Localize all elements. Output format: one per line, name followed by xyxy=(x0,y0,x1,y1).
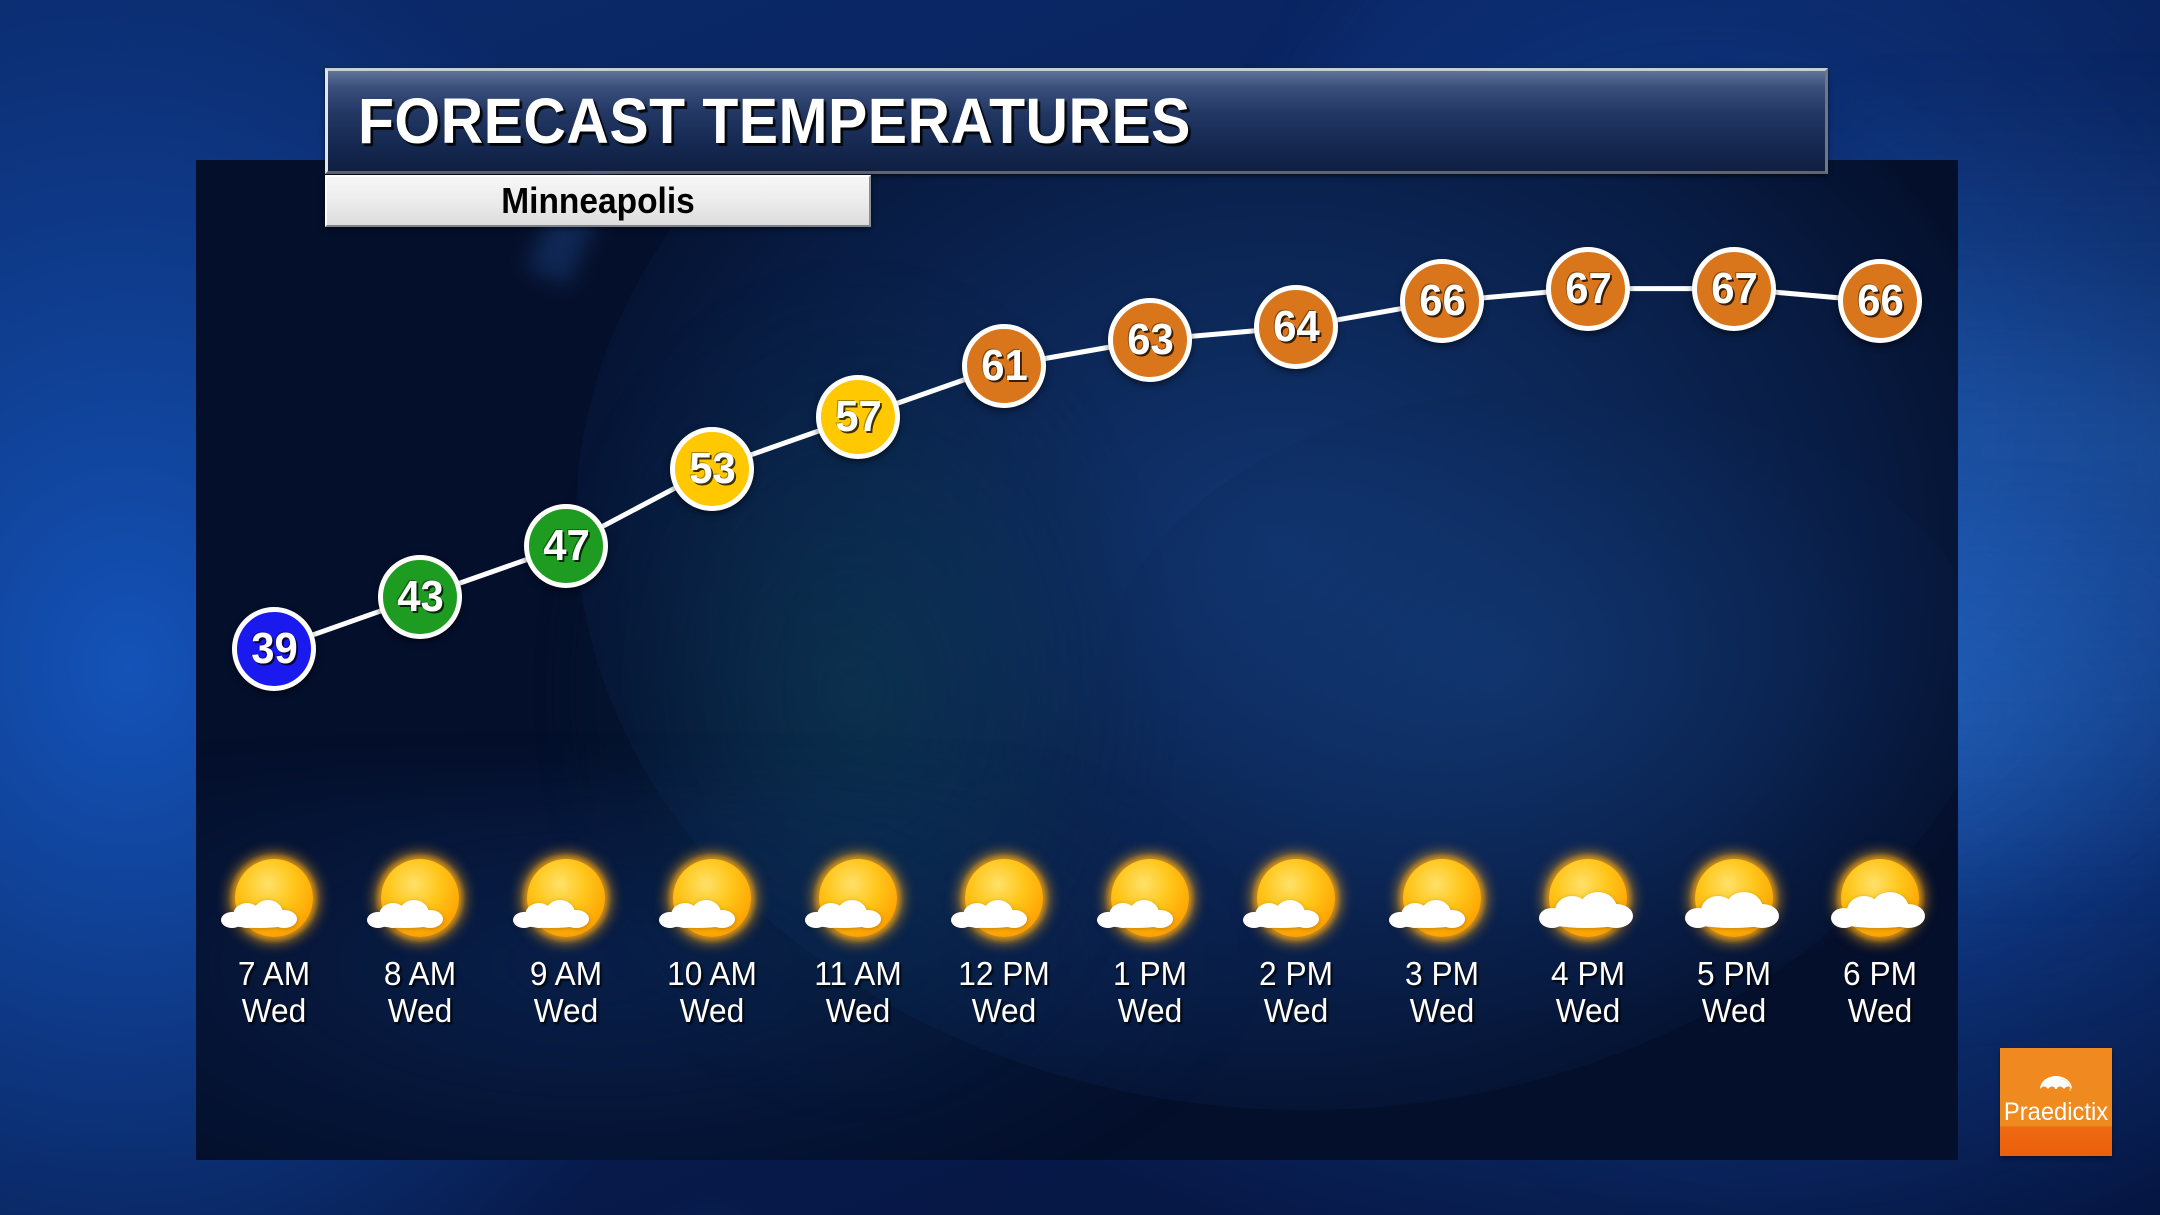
forecast-day-label: Wed xyxy=(944,993,1063,1030)
cloud-puff xyxy=(515,915,587,928)
forecast-column: 1 PMWed xyxy=(1088,848,1212,1030)
cloud-shape xyxy=(951,900,1029,928)
forecast-time-label: 5 PM xyxy=(1674,956,1793,993)
temperature-value: 43 xyxy=(397,575,444,619)
cloud-puff xyxy=(1543,912,1629,928)
forecast-column: 2 PMWed xyxy=(1234,848,1358,1030)
forecast-time-label: 2 PM xyxy=(1236,956,1355,993)
forecast-column: 9 AMWed xyxy=(504,848,628,1030)
forecast-day-label: Wed xyxy=(506,993,625,1030)
forecast-column: 4 PMWed xyxy=(1526,848,1650,1030)
temperature-chart: 394347535761636466676766 7 AMWed8 AMWed9… xyxy=(196,160,1958,1160)
forecast-column: 3 PMWed xyxy=(1380,848,1504,1030)
city-bar: Minneapolis xyxy=(325,175,871,227)
forecast-time-label: 11 AM xyxy=(798,956,917,993)
cloud-puff xyxy=(1835,912,1921,928)
temperature-value: 66 xyxy=(1857,279,1904,323)
temperature-dot: 67 xyxy=(1692,247,1776,331)
temperature-value: 47 xyxy=(543,524,590,568)
temperature-value: 67 xyxy=(1565,267,1612,311)
cloud-shape xyxy=(805,900,883,928)
sun-with-cloud-icon xyxy=(1095,848,1205,948)
forecast-day-label: Wed xyxy=(360,993,479,1030)
page-title: FORECAST TEMPERATURES xyxy=(358,89,1191,153)
temperature-dot: 57 xyxy=(816,375,900,459)
cloud-puff xyxy=(807,915,879,928)
cloud-shape xyxy=(1097,900,1175,928)
cloud-puff xyxy=(369,915,441,928)
cloud-puff xyxy=(1099,915,1171,928)
cloud-shape xyxy=(1539,892,1633,928)
cloud-puff xyxy=(1391,915,1463,928)
forecast-column: 7 AMWed xyxy=(212,848,336,1030)
sun-behind-cloud-icon xyxy=(1533,848,1643,948)
sun-with-cloud-icon xyxy=(803,848,913,948)
forecast-day-label: Wed xyxy=(1820,993,1939,1030)
forecast-column: 6 PMWed xyxy=(1818,848,1942,1030)
cloud-shape xyxy=(1243,900,1321,928)
forecast-column: 8 AMWed xyxy=(358,848,482,1030)
forecast-day-label: Wed xyxy=(1674,993,1793,1030)
temperature-dot: 66 xyxy=(1400,259,1484,343)
temperature-dot: 64 xyxy=(1254,285,1338,369)
temperature-dot: 53 xyxy=(670,427,754,511)
sun-behind-cloud-icon xyxy=(1679,848,1789,948)
forecast-day-label: Wed xyxy=(1236,993,1355,1030)
forecast-column: 10 AMWed xyxy=(650,848,774,1030)
sun-with-cloud-icon xyxy=(511,848,621,948)
temperature-dot: 47 xyxy=(524,504,608,588)
forecast-time-label: 4 PM xyxy=(1528,956,1647,993)
temperature-value: 64 xyxy=(1273,305,1320,349)
forecast-time-label: 10 AM xyxy=(652,956,771,993)
temperature-value: 66 xyxy=(1419,279,1466,323)
praedictix-logo[interactable]: Praedictix xyxy=(2000,1048,2112,1156)
cloud-shape xyxy=(221,900,299,928)
temperature-value: 39 xyxy=(251,627,298,671)
cloud-shape xyxy=(1389,900,1467,928)
sun-with-cloud-icon xyxy=(949,848,1059,948)
cloud-shape xyxy=(659,900,737,928)
forecast-day-label: Wed xyxy=(1382,993,1501,1030)
cloud-puff xyxy=(661,915,733,928)
sun-with-cloud-icon xyxy=(365,848,475,948)
title-bar: FORECAST TEMPERATURES xyxy=(325,68,1828,174)
forecast-time-label: 3 PM xyxy=(1382,956,1501,993)
forecast-day-label: Wed xyxy=(1528,993,1647,1030)
temperature-value: 53 xyxy=(689,447,736,491)
forecast-day-label: Wed xyxy=(1090,993,1209,1030)
temperature-dot: 66 xyxy=(1838,259,1922,343)
cloud-puff xyxy=(223,915,295,928)
forecast-panel: 394347535761636466676766 7 AMWed8 AMWed9… xyxy=(196,160,1958,1160)
temperature-value: 61 xyxy=(981,344,1028,388)
header: FORECAST TEMPERATURES Minneapolis xyxy=(325,68,1828,227)
forecast-time-label: 12 PM xyxy=(944,956,1063,993)
logo-text: Praedictix xyxy=(2004,1100,2108,1125)
forecast-day-label: Wed xyxy=(214,993,333,1030)
forecast-column: 12 PMWed xyxy=(942,848,1066,1030)
city-name: Minneapolis xyxy=(501,180,694,222)
cloud-shape xyxy=(367,900,445,928)
forecast-column: 11 AMWed xyxy=(796,848,920,1030)
umbrella-icon xyxy=(2037,1075,2075,1097)
temperature-value: 67 xyxy=(1711,267,1758,311)
temperature-dot: 63 xyxy=(1108,298,1192,382)
forecast-time-label: 1 PM xyxy=(1090,956,1209,993)
forecast-day-label: Wed xyxy=(652,993,771,1030)
forecast-time-label: 9 AM xyxy=(506,956,625,993)
sun-with-cloud-icon xyxy=(1241,848,1351,948)
forecast-day-label: Wed xyxy=(798,993,917,1030)
sun-with-cloud-icon xyxy=(1387,848,1497,948)
temperature-value: 57 xyxy=(835,395,882,439)
forecast-time-label: 7 AM xyxy=(214,956,333,993)
forecast-time-label: 8 AM xyxy=(360,956,479,993)
cloud-shape xyxy=(513,900,591,928)
temperature-dot: 67 xyxy=(1546,247,1630,331)
cloud-puff xyxy=(1245,915,1317,928)
sun-with-cloud-icon xyxy=(657,848,767,948)
sun-behind-cloud-icon xyxy=(1825,848,1935,948)
cloud-shape xyxy=(1685,892,1779,928)
temperature-value: 63 xyxy=(1127,318,1174,362)
temperature-dot: 61 xyxy=(962,324,1046,408)
cloud-shape xyxy=(1831,892,1925,928)
temperature-dot: 43 xyxy=(378,555,462,639)
cloud-puff xyxy=(953,915,1025,928)
forecast-time-label: 6 PM xyxy=(1820,956,1939,993)
temperature-dot: 39 xyxy=(232,607,316,691)
forecast-column: 5 PMWed xyxy=(1672,848,1796,1030)
sun-with-cloud-icon xyxy=(219,848,329,948)
cloud-puff xyxy=(1689,912,1775,928)
